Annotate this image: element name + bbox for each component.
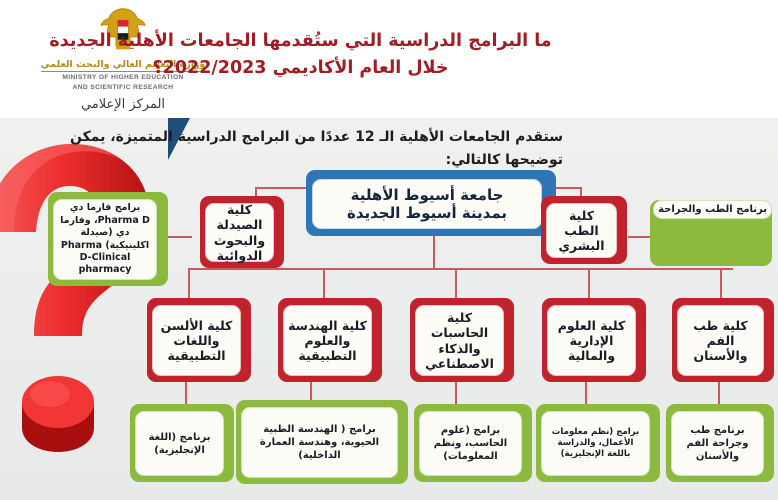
connector-level2-bus — [188, 268, 733, 270]
node-face: جامعة أسيوط الأهلية بمدينة أسيوط الجديدة — [312, 179, 542, 229]
media-center-label: المركز الإعلامي — [23, 97, 223, 112]
node-label: برامج ( الهندسة الطبية الحيوية، وهندسة ا… — [246, 423, 393, 462]
node-label: كلية الحاسبات والذكاء الاصطناعي — [420, 310, 499, 371]
node-face: برامج ( الهندسة الطبية الحيوية، وهندسة ا… — [241, 407, 398, 478]
node-face: كلية الهندسة والعلوم التطبيقية — [283, 305, 372, 376]
node-label: برامج (علوم الحاسب، ونظم المعلومات) — [424, 424, 517, 463]
page-title-line2: خلال العام الأكاديمي 2022/2023؟ — [13, 55, 588, 82]
node-program-pharmacy[interactable]: برامج فارما دي Pharma D، وفارما دي (صيدل… — [48, 192, 168, 286]
connector-dentistry-program — [718, 382, 720, 404]
node-label: كلية الطب البشري — [551, 208, 612, 254]
page-title-line1: ما البرامج الدراسية التي ستُقدمها الجامع… — [13, 28, 588, 55]
node-face: برنامج الطب والجراحة — [653, 200, 772, 219]
connector-dentistry-drop — [720, 268, 722, 298]
node-label: جامعة أسيوط الأهلية بمدينة أسيوط الجديدة — [347, 186, 507, 223]
subtitle-line1: ستقدم الجامعات الأهلية الـ 12 عددًا من ا… — [15, 126, 563, 149]
node-label: كلية طب الفم والأسنان — [682, 318, 759, 364]
connector-computing-program — [455, 382, 457, 404]
node-label: كلية العلوم الإدارية والمالية — [552, 318, 631, 364]
node-program-computer-science-information-systems[interactable]: برامج (علوم الحاسب، ونظم المعلومات) — [414, 404, 532, 482]
subtitle-line2: توضيحها كالتالي: — [15, 149, 563, 172]
node-faculty-management-finance[interactable]: كلية العلوم الإدارية والمالية — [542, 298, 646, 382]
node-face: كلية الطب البشري — [546, 203, 617, 258]
node-face: برامج (نظم معلومات الأعمال، والدراسة بال… — [541, 411, 650, 476]
subtitle: ستقدم الجامعات الأهلية الـ 12 عددًا من ا… — [15, 126, 563, 172]
connector-root-vertical — [433, 236, 435, 268]
node-face: برامج فارما دي Pharma D، وفارما دي (صيدل… — [53, 199, 157, 280]
infographic-canvas: وزارة التعليم العالي والبحث العلمي MINIS… — [0, 0, 778, 500]
ministry-name-english-line2: AND SCIENTIFIC RESEARCH — [23, 84, 223, 92]
connector-medicine-program — [628, 236, 650, 238]
node-face: كلية العلوم الإدارية والمالية — [547, 305, 636, 376]
node-faculty-computing-ai[interactable]: كلية الحاسبات والذكاء الاصطناعي — [410, 298, 514, 382]
node-faculty-alsun-languages[interactable]: كلية الألسن واللغات التطبيقية — [147, 298, 251, 382]
node-face: كلية الألسن واللغات التطبيقية — [152, 305, 241, 376]
node-faculty-oral-dentistry[interactable]: كلية طب الفم والأسنان — [672, 298, 774, 382]
node-label: كلية الهندسة والعلوم التطبيقية — [288, 318, 367, 364]
node-face: برامج (علوم الحاسب، ونظم المعلومات) — [419, 411, 522, 476]
connector-management-drop — [588, 268, 590, 298]
node-label: برامج فارما دي Pharma D، وفارما دي (صيدل… — [58, 202, 152, 276]
page-title: ما البرامج الدراسية التي ستُقدمها الجامع… — [13, 28, 588, 82]
node-program-english-language[interactable]: برنامج (اللغة الإنجليزية) — [130, 404, 234, 482]
node-faculty-engineering[interactable]: كلية الهندسة والعلوم التطبيقية — [278, 298, 382, 382]
node-program-biomedical-interior-architecture[interactable]: برامج ( الهندسة الطبية الحيوية، وهندسة ا… — [236, 400, 408, 484]
connector-management-program — [585, 382, 587, 404]
node-program-medicine-surgery[interactable]: برنامج الطب والجراحة — [650, 200, 772, 266]
node-program-oral-dental-surgery[interactable]: برنامج طب وجراحة الفم والأسنان — [666, 404, 774, 482]
node-faculty-pharmacy[interactable]: كلية الصيدلة والبحوث الدوائية — [200, 196, 284, 268]
node-face: كلية طب الفم والأسنان — [677, 305, 764, 376]
header: وزارة التعليم العالي والبحث العلمي MINIS… — [0, 0, 778, 118]
node-label: برنامج (اللغة الإنجليزية) — [140, 431, 219, 457]
node-face: برنامج (اللغة الإنجليزية) — [135, 411, 224, 476]
node-label: كلية الصيدلة والبحوث الدوائية — [210, 202, 269, 263]
connector-alsun-drop — [188, 268, 190, 298]
node-program-business-information-systems[interactable]: برامج (نظم معلومات الأعمال، والدراسة بال… — [536, 404, 660, 482]
node-face: كلية الصيدلة والبحوث الدوائية — [205, 203, 274, 262]
node-faculty-human-medicine[interactable]: كلية الطب البشري — [541, 196, 627, 264]
node-label: برنامج الطب والجراحة — [658, 203, 767, 216]
connector-pharmacy-program — [164, 236, 192, 238]
node-face: برنامج طب وجراحة الفم والأسنان — [671, 411, 764, 476]
connector-alsun-program — [185, 382, 187, 404]
node-label: برامج (نظم معلومات الأعمال، والدراسة بال… — [546, 427, 645, 461]
connector-engineering-drop — [323, 268, 325, 298]
node-label: كلية الألسن واللغات التطبيقية — [157, 318, 236, 364]
node-label: برنامج طب وجراحة الفم والأسنان — [676, 424, 759, 463]
node-university-root[interactable]: جامعة أسيوط الأهلية بمدينة أسيوط الجديدة — [306, 170, 556, 236]
node-face: كلية الحاسبات والذكاء الاصطناعي — [415, 305, 504, 376]
connector-computing-drop — [455, 268, 457, 298]
